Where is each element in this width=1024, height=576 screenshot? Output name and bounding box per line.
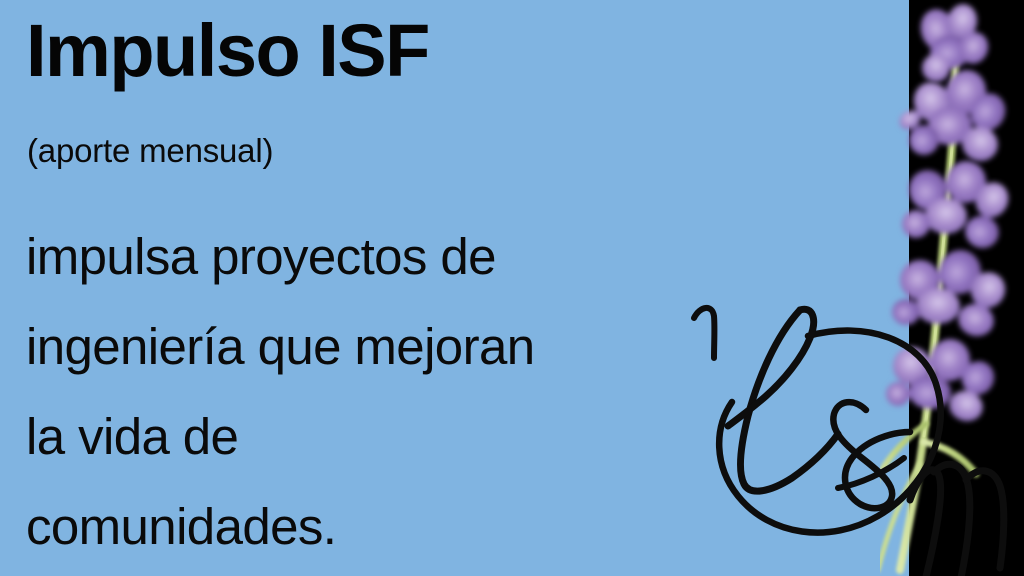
slide-canvas: Impulso ISF (aporte mensual) impulsa pro…	[0, 0, 1024, 576]
body-copy: impulsa proyectos de ingeniería que mejo…	[26, 212, 766, 572]
page-title: Impulso ISF	[26, 12, 429, 90]
body-line: comunidades.	[26, 482, 766, 572]
text-block: Impulso ISF (aporte mensual) impulsa pro…	[26, 0, 786, 576]
body-line: impulsa proyectos de	[26, 212, 766, 302]
body-line: ingeniería que mejoran	[26, 302, 766, 392]
body-line: la vida de	[26, 392, 766, 482]
page-subtitle: (aporte mensual)	[27, 133, 273, 169]
